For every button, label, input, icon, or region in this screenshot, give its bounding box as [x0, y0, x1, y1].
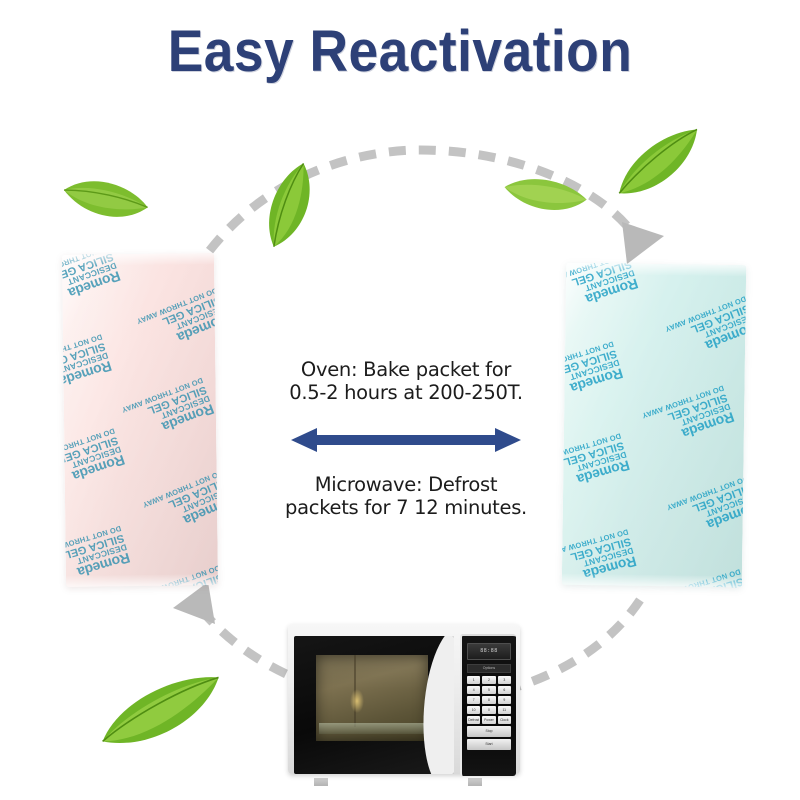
silica-gel-packet-left: Romeda DESICCANT SILICA GEL DO NOT THROW…	[62, 253, 218, 587]
microwave-turntable	[319, 723, 425, 734]
leaf-icon	[88, 664, 238, 766]
silica-gel-packet-right: Romeda DESICCANT SILICA GEL DO NOT THROW…	[562, 263, 746, 587]
stamp-warning: DO NOT THROW AWAY	[657, 567, 742, 587]
microwave-key[interactable]: 9	[498, 696, 511, 704]
infographic-canvas: Easy Reactivation Romeda DESICCANT SILIC…	[0, 0, 800, 800]
double-headed-arrow-shape	[291, 428, 521, 452]
microwave-instruction: Microwave: Defrost packets for 7 12 minu…	[256, 473, 556, 520]
leaf-icon	[48, 158, 158, 250]
leaf-icon	[602, 120, 718, 212]
stamp-brand: Romeda	[126, 253, 212, 269]
microwave-window	[316, 655, 428, 741]
stamp-brand: Romeda	[656, 263, 742, 276]
oven-instruction: Oven: Bake packet for 0.5-2 hours at 200…	[256, 358, 556, 405]
microwave-key[interactable]: 1	[467, 676, 480, 684]
page-title: Easy Reactivation	[32, 18, 768, 85]
microwave-key[interactable]: 5	[482, 686, 495, 694]
microwave-key[interactable]: 4	[467, 686, 480, 694]
top-arc-arrowhead	[622, 222, 664, 264]
microwave-display: 88:88	[467, 643, 511, 660]
stamp-desiccant: DESICCANT	[143, 581, 218, 587]
microwave-start-button[interactable]: Start	[467, 739, 511, 750]
bidirectional-arrow	[256, 427, 556, 453]
microwave-options-label: Options	[467, 664, 511, 673]
stamp-warning: DO NOT THROW AWAY	[137, 564, 218, 587]
microwave-foot-left	[314, 778, 328, 786]
microwave-key[interactable]: 8	[482, 696, 495, 704]
microwave-instruction-line2: packets for 7 12 minutes.	[256, 496, 556, 519]
microwave-cavity-glow	[350, 689, 364, 713]
microwave-defrost-button[interactable]: Defrost	[467, 716, 480, 724]
microwave-foot-right	[468, 778, 482, 786]
stamp-silica-gel: SILICA GEL	[659, 575, 745, 587]
microwave-key[interactable]: 7	[467, 696, 480, 704]
packet-print-pattern-left: Romeda DESICCANT SILICA GEL DO NOT THROW…	[62, 253, 218, 587]
microwave-key[interactable]: 6	[498, 686, 511, 694]
leaf-icon	[243, 162, 347, 258]
microwave-stop-button[interactable]: Stop	[467, 726, 511, 737]
stamp-desiccant: DESICCANT	[662, 585, 746, 587]
microwave-control-panel[interactable]: 88:88 Options 1 2 3 4 5 6 7 8 9 10 0 11 …	[460, 634, 516, 776]
microwave-key[interactable]: 2	[482, 676, 495, 684]
microwave-key[interactable]: 11	[498, 706, 511, 714]
leaf-icon	[496, 158, 592, 236]
microwave-key[interactable]: 3	[498, 676, 511, 684]
microwave-body: 88:88 Options 1 2 3 4 5 6 7 8 9 10 0 11 …	[288, 624, 520, 774]
microwave-door[interactable]	[294, 636, 454, 774]
microwave-key[interactable]: 10	[467, 706, 480, 714]
bottom-arc-arrowhead	[173, 582, 215, 624]
microwave-oven: 88:88 Options 1 2 3 4 5 6 7 8 9 10 0 11 …	[288, 618, 520, 786]
microwave-instruction-line1: Microwave: Defrost	[315, 473, 498, 496]
instructions-block: Oven: Bake packet for 0.5-2 hours at 200…	[256, 358, 556, 520]
oven-instruction-line1: Oven: Bake packet for	[301, 358, 511, 381]
oven-instruction-line2: 0.5-2 hours at 200-250T.	[256, 381, 556, 404]
stamp-desiccant: DESICCANT	[123, 253, 207, 256]
microwave-key[interactable]: 0	[482, 706, 495, 714]
microwave-clock-button[interactable]: Clock	[498, 716, 511, 724]
microwave-keypad[interactable]: 1 2 3 4 5 6 7 8 9 10 0 11 Defrost Power …	[467, 676, 511, 750]
microwave-power-button[interactable]: Power	[482, 716, 495, 724]
packet-print-pattern-right: Romeda DESICCANT SILICA GEL DO NOT THROW…	[562, 263, 746, 587]
